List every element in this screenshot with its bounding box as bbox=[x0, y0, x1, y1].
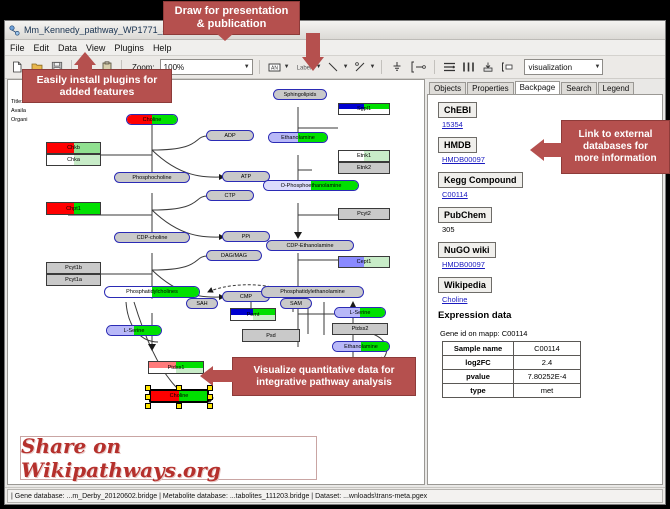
node-label: Pemt bbox=[247, 312, 260, 318]
callout-plugins: Easily install plugins for added feature… bbox=[22, 69, 172, 103]
pathway-drawing: Title: Availa Organi bbox=[8, 80, 424, 484]
tab-backpage[interactable]: Backpage bbox=[515, 81, 561, 94]
selection-handle[interactable] bbox=[145, 385, 151, 391]
node-label: Ethanolamine bbox=[281, 135, 315, 141]
node-label: Ptdss1 bbox=[168, 365, 185, 371]
node-ethanolamine-bottom[interactable]: Ethanolamine bbox=[332, 341, 390, 352]
db-header-wikipedia: Wikipedia bbox=[438, 277, 492, 293]
table-row: Sample name C00114 bbox=[443, 342, 581, 356]
node-label: Pcyt2 bbox=[357, 211, 371, 217]
node-label: Etnk2 bbox=[357, 165, 371, 171]
callout-visualize-arrow-shaft bbox=[212, 370, 234, 382]
chevron-down-icon[interactable]: ▼ bbox=[343, 64, 349, 70]
pathvisio-icon bbox=[9, 25, 20, 36]
cell-value: 7.80252E-4 bbox=[514, 370, 581, 384]
anchor-line-tool[interactable]: ▼ bbox=[352, 59, 376, 76]
db-header-nugo-wiki: NuGO wiki bbox=[438, 242, 496, 258]
node-ptdss2[interactable]: Ptdss2 bbox=[332, 323, 388, 335]
node-label: CDP-Ethanolamine bbox=[286, 243, 333, 249]
db-header-pubchem: PubChem bbox=[438, 207, 492, 223]
callout-links-arrow-shaft bbox=[543, 143, 563, 157]
selection-handle[interactable] bbox=[207, 394, 213, 400]
menu-item-edit[interactable]: Edit bbox=[34, 43, 50, 53]
callout-plugins-text: Easily install plugins for added feature… bbox=[37, 74, 158, 99]
node-o-phosphoethanolamine[interactable]: O-Phosphoethanolamine bbox=[263, 180, 359, 191]
node-label: Sphingolipids bbox=[284, 92, 317, 98]
node-label: Phosphatidylethanolamine bbox=[280, 289, 345, 295]
cell-key: log2FC bbox=[443, 356, 514, 370]
node-phosphocholine[interactable]: Phosphocholine bbox=[114, 172, 190, 183]
selection-handle[interactable] bbox=[145, 403, 151, 409]
callout-visualize-text: Visualize quantitative data for integrat… bbox=[254, 365, 395, 389]
node-label: Chkb bbox=[67, 145, 80, 151]
node-label: Pcyt1b bbox=[65, 265, 82, 271]
callout-links: Link to external databases for more info… bbox=[561, 120, 670, 174]
menu-item-help[interactable]: Help bbox=[153, 43, 172, 53]
tab-legend[interactable]: Legend bbox=[598, 82, 635, 94]
node-label: Choline bbox=[143, 117, 162, 123]
tab-search[interactable]: Search bbox=[561, 82, 596, 94]
callout-draw-arrow-shaft bbox=[306, 33, 320, 59]
menu-bar[interactable]: File Edit Data View Plugins Help bbox=[5, 40, 665, 56]
node-label: ADP bbox=[224, 133, 235, 139]
stack-icon[interactable] bbox=[479, 59, 496, 76]
table-row: type met bbox=[443, 384, 581, 398]
node-l-serine-left[interactable]: L-Serine bbox=[106, 325, 162, 336]
node-phosphatidylcholines[interactable]: Phosphatidylcholines bbox=[104, 286, 200, 298]
toolbar-separator bbox=[381, 60, 382, 74]
menu-item-plugins[interactable]: Plugins bbox=[114, 43, 144, 53]
gene-id-on-mapp: Gene id on mapp: C00114 bbox=[440, 329, 662, 338]
node-cept1[interactable]: Cept1 bbox=[338, 256, 390, 268]
group-icon[interactable] bbox=[499, 59, 515, 76]
node-pemt[interactable]: Pemt bbox=[230, 308, 276, 321]
node-choline-selected[interactable]: Choline bbox=[149, 389, 209, 403]
node-adp[interactable]: ADP bbox=[206, 130, 254, 141]
callout-links-text: Link to external databases for more info… bbox=[574, 129, 656, 164]
node-label: SAH bbox=[196, 301, 207, 307]
node-label: Sgpl1 bbox=[357, 106, 371, 112]
table-row: log2FC 2.4 bbox=[443, 356, 581, 370]
db-header-hmdb: HMDB bbox=[438, 137, 477, 153]
title-bar: Mm_Kennedy_pathway_WP1771_45176.gpml bbox=[5, 21, 665, 40]
node-label: O-Phosphoethanolamine bbox=[281, 183, 342, 189]
db-link-nugo-wiki[interactable]: HMDB00097 bbox=[442, 260, 662, 269]
datanode-icon[interactable]: AN bbox=[266, 59, 283, 76]
visualization-value: visualization bbox=[528, 63, 572, 72]
node-label: Psd bbox=[266, 333, 275, 339]
selection-handle[interactable] bbox=[176, 385, 182, 391]
chevron-down-icon[interactable]: ▼ bbox=[284, 64, 290, 70]
node-pcyt1b[interactable]: Pcyt1b bbox=[46, 262, 101, 274]
chevron-down-icon[interactable]: ▼ bbox=[244, 64, 250, 70]
node-etnk1[interactable]: Etnk1 bbox=[338, 150, 390, 162]
toolbar-separator bbox=[434, 60, 435, 74]
node-sphingolipids[interactable]: Sphingolipids bbox=[273, 89, 327, 100]
node-pcyt1a[interactable]: Pcyt1a bbox=[46, 274, 101, 286]
db-link-kegg-compound[interactable]: C00114 bbox=[442, 190, 662, 199]
node-label: Pcyt1a bbox=[65, 277, 82, 283]
cell-key: pvalue bbox=[443, 370, 514, 384]
node-label: Ptdss2 bbox=[352, 326, 369, 332]
callout-draw-arrow-head bbox=[302, 57, 324, 71]
cell-value: 2.4 bbox=[514, 356, 581, 370]
node-psd[interactable]: Psd bbox=[242, 329, 300, 342]
node-chka[interactable]: Chka bbox=[46, 154, 101, 166]
cell-value: C00114 bbox=[514, 342, 581, 356]
node-label: Phosphatidylcholines bbox=[126, 289, 178, 295]
selection-handle[interactable] bbox=[145, 394, 151, 400]
node-cdp-ethanolamine[interactable]: CDP-Ethanolamine bbox=[266, 240, 354, 251]
db-header-kegg-compound: Kegg Compound bbox=[438, 172, 523, 188]
share-banner-text: Share on Wikipathways.org bbox=[21, 434, 316, 482]
node-label: DAG/MAG bbox=[221, 253, 247, 259]
node-label: CTP bbox=[225, 193, 236, 199]
toolbar-separator bbox=[259, 60, 260, 74]
node-label: Chka bbox=[67, 157, 80, 163]
node-label: L-Serine bbox=[124, 328, 145, 334]
tab-objects[interactable]: Objects bbox=[429, 82, 466, 94]
anchor-line-icon[interactable] bbox=[352, 59, 369, 76]
expression-data-heading: Expression data bbox=[438, 310, 662, 321]
node-ctp[interactable]: CTP bbox=[206, 190, 254, 201]
node-chkb[interactable]: Chkb bbox=[46, 142, 101, 154]
callout-links-arrow-head bbox=[530, 139, 544, 161]
cell-key: type bbox=[443, 384, 514, 398]
node-label: L-Serine bbox=[350, 310, 371, 316]
svg-text:AN: AN bbox=[271, 65, 278, 71]
node-ppi[interactable]: PPi bbox=[222, 231, 270, 242]
node-label: Phosphocholine bbox=[132, 175, 171, 181]
node-sgpl1[interactable]: Sgpl1 bbox=[338, 103, 390, 115]
side-panel-tabs[interactable]: Objects Properties Backpage Search Legen… bbox=[427, 79, 663, 94]
db-header-chebi: ChEBI bbox=[438, 102, 477, 118]
node-label: Cept1 bbox=[357, 259, 372, 265]
node-label: Choline bbox=[170, 393, 189, 399]
status-bar-field: | Gene database: ...m_Derby_20120602.bri… bbox=[7, 489, 663, 503]
callout-draw-text: Draw for presentation & publication bbox=[175, 5, 289, 31]
node-sah[interactable]: SAH bbox=[186, 298, 218, 309]
status-bar: | Gene database: ...m_Derby_20120602.bri… bbox=[5, 487, 665, 504]
chevron-down-icon[interactable]: ▼ bbox=[595, 64, 601, 70]
db-link-wikipedia[interactable]: Choline bbox=[442, 295, 662, 304]
node-choline-top[interactable]: Choline bbox=[126, 114, 178, 125]
ground-icon[interactable] bbox=[388, 59, 405, 76]
menu-item-data[interactable]: Data bbox=[58, 43, 77, 53]
callout-plugins-arrow-shaft bbox=[78, 64, 92, 72]
tab-properties[interactable]: Properties bbox=[467, 82, 513, 94]
node-etnk2[interactable]: Etnk2 bbox=[338, 162, 390, 174]
db-value-pubchem: 305 bbox=[442, 225, 662, 234]
node-pcyt2[interactable]: Pcyt2 bbox=[338, 208, 390, 220]
node-label: CMP bbox=[240, 294, 252, 300]
menu-item-file[interactable]: File bbox=[10, 43, 25, 53]
node-dag-mag[interactable]: DAG/MAG bbox=[206, 250, 262, 261]
pathway-canvas[interactable]: Title: Availa Organi bbox=[7, 79, 425, 485]
node-label: SAM bbox=[290, 301, 302, 307]
node-chpt1[interactable]: Chpt1 bbox=[46, 202, 101, 215]
status-bar-text: | Gene database: ...m_Derby_20120602.bri… bbox=[11, 493, 427, 500]
line-tool[interactable]: ▼ bbox=[325, 59, 349, 76]
node-label: Chpt1 bbox=[66, 206, 81, 212]
node-ptdss1[interactable]: Ptdss1 bbox=[148, 361, 204, 374]
screenshot-root: Mm_Kennedy_pathway_WP1771_45176.gpml Fil… bbox=[0, 0, 670, 509]
menu-item-view[interactable]: View bbox=[86, 43, 105, 53]
callout-draw: Draw for presentation & publication bbox=[163, 1, 300, 35]
node-label: CDP-choline bbox=[137, 235, 168, 241]
zoom-combo[interactable]: 100% ▼ bbox=[160, 59, 253, 75]
expression-data-table: Sample name C00114 log2FC 2.4 pvalue 7.8… bbox=[442, 341, 581, 398]
node-ethanolamine-top[interactable]: Ethanolamine bbox=[268, 132, 328, 143]
node-label: PPi bbox=[242, 234, 251, 240]
node-sam[interactable]: SAM bbox=[280, 298, 312, 309]
node-l-serine-right[interactable]: L-Serine bbox=[334, 307, 386, 318]
cell-value: met bbox=[514, 384, 581, 398]
selection-handle[interactable] bbox=[176, 403, 182, 409]
line-icon[interactable] bbox=[325, 59, 342, 76]
callout-draw-arrow-stem bbox=[216, 33, 234, 41]
datanode-tool[interactable]: AN ▼ bbox=[266, 59, 290, 76]
share-banner: Share on Wikipathways.org bbox=[20, 436, 317, 480]
bracket-icon[interactable] bbox=[408, 59, 428, 76]
selection-handle[interactable] bbox=[207, 403, 213, 409]
callout-visualize: Visualize quantitative data for integrat… bbox=[232, 357, 416, 396]
node-atp[interactable]: ATP bbox=[222, 171, 270, 182]
node-label: ATP bbox=[241, 174, 251, 180]
table-row: pvalue 7.80252E-4 bbox=[443, 370, 581, 384]
node-label: Ethanolamine bbox=[344, 344, 378, 350]
node-label: Etnk1 bbox=[357, 153, 371, 159]
chevron-down-icon[interactable]: ▼ bbox=[370, 64, 376, 70]
align-icon[interactable] bbox=[441, 59, 457, 76]
visualization-combo[interactable]: visualization ▼ bbox=[524, 59, 603, 75]
node-cdp-choline[interactable]: CDP-choline bbox=[114, 232, 190, 243]
node-phosphatidylethanolamine[interactable]: Phosphatidylethanolamine bbox=[261, 286, 364, 298]
cell-key: Sample name bbox=[443, 342, 514, 356]
distribute-icon[interactable] bbox=[460, 59, 476, 76]
